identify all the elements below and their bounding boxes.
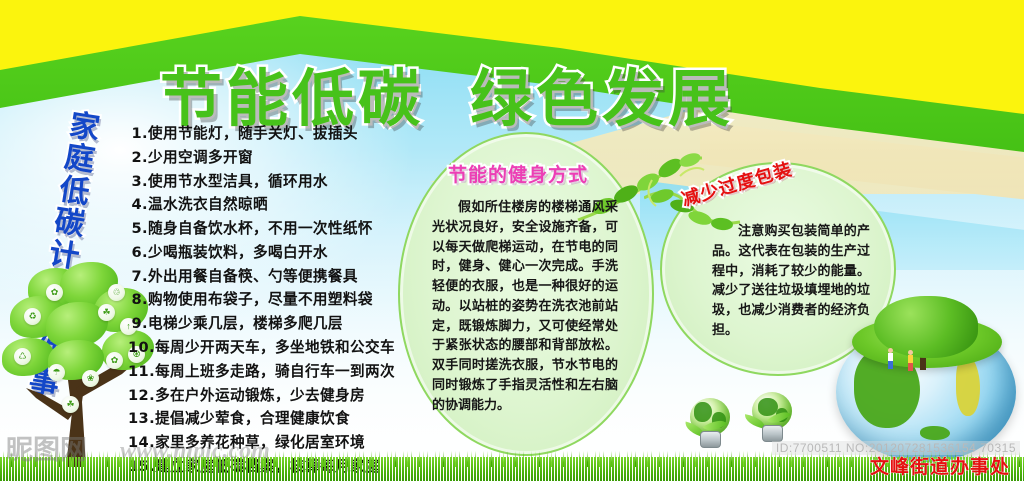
bulb-map-shape (758, 398, 778, 416)
low-carbon-checklist: 1.使用节能灯，随手关灯、拔插头2.少用空调多开窗3.使用节水型洁具，循环用水4… (128, 122, 428, 481)
child-figure (888, 348, 893, 368)
checklist-item: 1.使用节能灯，随手关灯、拔插头 (128, 122, 428, 146)
checklist-item: 11.每周上班多走路，骑自行车一到两次 (128, 360, 428, 384)
checklist-item-number: 11. (128, 360, 155, 384)
checklist-item-number: 10. (128, 336, 155, 360)
checklist-item-text: 少喝瓶装饮料，多喝白开水 (148, 244, 328, 261)
checklist-item-number: 5. (128, 217, 148, 241)
checklist-item: 6.少喝瓶装饮料，多喝白开水 (128, 241, 428, 265)
checklist-item: 10.每周少开两天车，多坐地铁和公交车 (128, 336, 428, 360)
checklist-item-number: 8. (128, 288, 148, 312)
eco-badge-icon: ✿ (46, 284, 63, 301)
checklist-item-text: 少用空调多开窗 (148, 149, 253, 166)
watermark-url: www.nipic.com (120, 438, 270, 465)
child-body (908, 355, 913, 363)
checklist-item-text: 电梯少乘几层，楼梯多爬几层 (148, 315, 343, 332)
eco-bulb-right (748, 392, 800, 444)
continent-shape (920, 426, 950, 440)
checklist-item-number: 13. (128, 407, 155, 431)
checklist-item-text: 多在户外运动锻炼，少去健身房 (155, 387, 365, 404)
checklist-item-text: 提倡减少荤食，合理健康饮食 (155, 410, 350, 427)
child-legs (888, 361, 893, 369)
checklist-item-text: 每周少开两天车，多坐地铁和公交车 (155, 339, 395, 356)
eco-badge-icon: ✿ (106, 352, 123, 369)
checklist-item-text: 使用节能灯，随手关灯、拔插头 (148, 125, 358, 142)
checklist-item: 3.使用节水型洁具，循环用水 (128, 170, 428, 194)
checklist-item: 7.外出用餐自备筷、勺等便携餐具 (128, 265, 428, 289)
child-body (888, 353, 893, 361)
child-figure (908, 350, 913, 370)
checklist-item-number: 9. (128, 312, 148, 336)
checklist-item: 9.电梯少乘几层，楼梯多爬几层 (128, 312, 428, 336)
eco-badge-icon: ❀ (82, 370, 99, 387)
eco-badge-icon: ☂ (48, 364, 65, 381)
child-legs (908, 363, 913, 371)
organization-name: 文峰街道办事处 (870, 452, 1010, 479)
checklist-item: 8.购物使用布袋子，尽量不用塑料袋 (128, 288, 428, 312)
checklist-item: 4.温水洗衣自然晾晒 (128, 193, 428, 217)
watermark-brand: 昵图网 (6, 428, 87, 467)
checklist-item: 13.提倡减少荤食，合理健康饮食 (128, 407, 428, 431)
poster-canvas: 节能低碳绿色发展 家庭低碳计划15件事 ✿ ♲ ♻ ☘ ↑ ♺ ✿ ☂ ❀ ☘ … (0, 0, 1024, 481)
center-card-heading: 节能的健身方式 (448, 160, 588, 187)
checklist-item-number: 2. (128, 146, 148, 170)
checklist-item-text: 温水洗衣自然晾晒 (148, 196, 268, 213)
checklist-item-number: 12. (128, 384, 155, 408)
bulb-base (762, 425, 783, 442)
checklist-item-text: 使用节水型洁具，循环用水 (148, 173, 328, 190)
checklist-item: 2.少用空调多开窗 (128, 146, 428, 170)
green-earth-illustration (836, 300, 1020, 464)
eco-badge-icon: ♻ (24, 308, 41, 325)
main-title-right: 绿色发展 (470, 62, 734, 135)
eco-badge-icon: ♲ (108, 284, 125, 301)
checklist-item: 12.多在户外运动锻炼，少去健身房 (128, 384, 428, 408)
checklist-item-number: 4. (128, 193, 148, 217)
checklist-item-text: 购物使用布袋子，尽量不用塑料袋 (148, 291, 373, 308)
bulb-map-shape (694, 402, 712, 422)
eco-badge-icon: ☘ (98, 304, 115, 321)
bulb-base (700, 431, 721, 448)
checklist-item-number: 7. (128, 265, 148, 289)
checklist-item-text: 每周上班多走路，骑自行车一到两次 (155, 363, 395, 380)
eco-badge-icon: ☘ (62, 396, 79, 413)
checklist-item-number: 3. (128, 170, 148, 194)
checklist-items: 1.使用节能灯，随手关灯、拔插头2.少用空调多开窗3.使用节水型洁具，循环用水4… (128, 122, 428, 481)
eco-bulb-left (686, 398, 738, 450)
checklist-item-text: 外出用餐自备筷、勺等便携餐具 (148, 268, 358, 285)
center-card-body: 假如所住楼房的楼梯通风采光状况良好，安全设施齐备，可以每天做爬梯运动，在节电的同… (432, 198, 618, 415)
checklist-item-number: 6. (128, 241, 148, 265)
checklist-item-number: 1. (128, 122, 148, 146)
checklist-item-text: 随身自备饮水杯，不用一次性纸怀 (148, 220, 373, 237)
eco-badge-icon: ♺ (14, 348, 31, 365)
checklist-item: 5.随身自备饮水杯，不用一次性纸怀 (128, 217, 428, 241)
